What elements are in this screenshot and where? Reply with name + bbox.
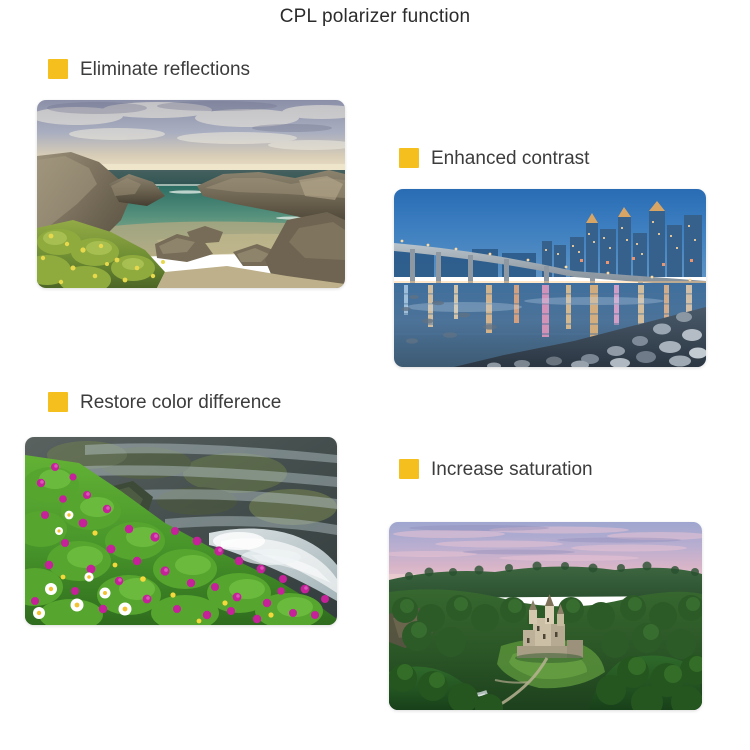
castle-valley-photo	[389, 522, 702, 710]
bullet-swatch-icon	[48, 392, 68, 412]
bullet-swatch-icon	[399, 459, 419, 479]
feature-label-eliminate-reflections: Eliminate reflections	[48, 59, 250, 79]
feature-label-restore-color-difference: Restore color difference	[48, 392, 281, 412]
flowers-stream-photo	[25, 437, 337, 625]
bullet-swatch-icon	[399, 148, 419, 168]
feature-label-text: Increase saturation	[431, 460, 593, 479]
feature-label-text: Restore color difference	[80, 393, 281, 412]
feature-label-increase-saturation: Increase saturation	[399, 459, 593, 479]
coastal-cove-photo	[37, 100, 345, 288]
page-title: CPL polarizer function	[0, 6, 750, 28]
feature-label-enhanced-contrast: Enhanced contrast	[399, 148, 589, 168]
feature-label-text: Enhanced contrast	[431, 149, 589, 168]
city-bridge-night-photo	[394, 189, 706, 367]
feature-label-text: Eliminate reflections	[80, 60, 250, 79]
bullet-swatch-icon	[48, 59, 68, 79]
